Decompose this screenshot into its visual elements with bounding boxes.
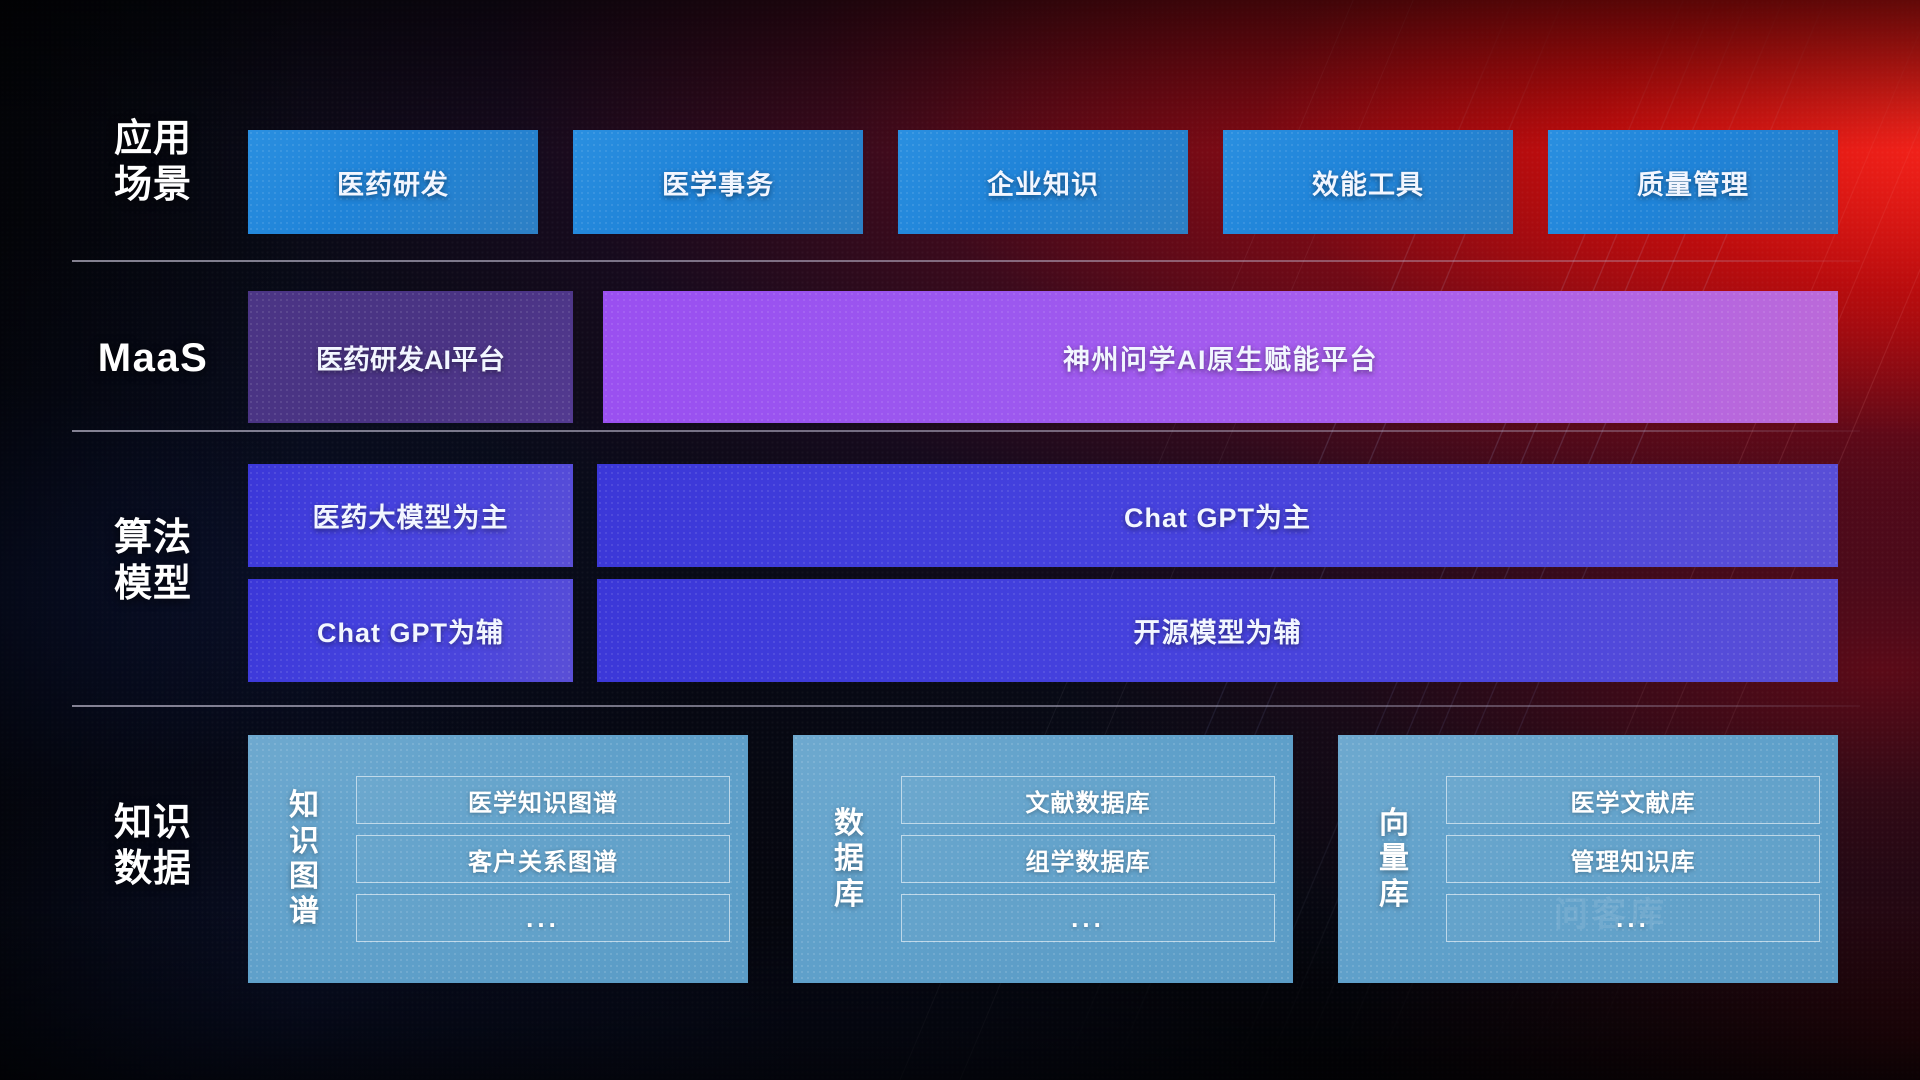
- algo-box-primary-right-label: Chat GPT为主: [1124, 496, 1311, 535]
- maas-box-pharma-ai-platform[interactable]: 医药研发AI平台: [248, 291, 573, 423]
- knowledge-item[interactable]: 医学知识图谱: [356, 776, 730, 824]
- knowledge-group-database[interactable]: 数 据 库 文献数据库 组学数据库 ...: [793, 735, 1293, 983]
- knowledge-group-vector-store[interactable]: 问客库 向 量 库 医学文献库 管理知识库 ...: [1338, 735, 1838, 983]
- app-box-5-label: 质量管理: [1637, 163, 1749, 202]
- app-box-4-label: 效能工具: [1312, 163, 1424, 202]
- knowledge-item[interactable]: 组学数据库: [901, 835, 1275, 883]
- app-box-1[interactable]: 医药研发: [248, 130, 538, 234]
- knowledge-group-2-title: 数 据 库: [805, 806, 893, 912]
- knowledge-item[interactable]: 医学文献库: [1446, 776, 1820, 824]
- algo-box-primary-right[interactable]: Chat GPT为主: [597, 464, 1838, 567]
- maas-box-shenzhou-wenxue-platform[interactable]: 神州问学AI原生赋能平台: [603, 291, 1838, 423]
- knowledge-item[interactable]: 文献数据库: [901, 776, 1275, 824]
- maas-box-pharma-ai-platform-label: 医药研发AI平台: [316, 338, 505, 377]
- app-box-2[interactable]: 医学事务: [573, 130, 863, 234]
- maas-box-shenzhou-wenxue-platform-label: 神州问学AI原生赋能平台: [1063, 338, 1378, 377]
- divider-algorithm-knowledge: [72, 705, 1860, 707]
- knowledge-group-3-title: 向 量 库: [1350, 806, 1438, 912]
- knowledge-item[interactable]: 管理知识库: [1446, 835, 1820, 883]
- row-label-application-scenarios: 应用 场景: [78, 116, 228, 209]
- algo-box-secondary-left[interactable]: Chat GPT为辅: [248, 579, 573, 682]
- knowledge-item[interactable]: 客户关系图谱: [356, 835, 730, 883]
- knowledge-item-more[interactable]: ...: [1446, 894, 1820, 942]
- app-box-3-label: 企业知识: [987, 163, 1099, 202]
- divider-application-maas: [72, 260, 1860, 262]
- app-box-1-label: 医药研发: [337, 163, 449, 202]
- row-label-algorithm-model: 算法 模型: [78, 515, 228, 608]
- divider-maas-algorithm: [72, 430, 1860, 432]
- knowledge-group-knowledge-graph[interactable]: 知 识 图 谱 医学知识图谱 客户关系图谱 ...: [248, 735, 748, 983]
- algo-box-secondary-right[interactable]: 开源模型为辅: [597, 579, 1838, 682]
- knowledge-group-1-title: 知 识 图 谱: [260, 788, 348, 930]
- app-box-2-label: 医学事务: [662, 163, 774, 202]
- slide-canvas: 应用 场景 医药研发 医学事务 企业知识 效能工具 质量管理 MaaS 医药研发…: [0, 0, 1920, 1080]
- app-box-4[interactable]: 效能工具: [1223, 130, 1513, 234]
- knowledge-group-1-items: 医学知识图谱 客户关系图谱 ...: [348, 762, 748, 956]
- knowledge-item-more[interactable]: ...: [356, 894, 730, 942]
- algo-box-secondary-left-label: Chat GPT为辅: [317, 611, 504, 650]
- algo-box-secondary-right-label: 开源模型为辅: [1134, 611, 1302, 650]
- knowledge-group-2-items: 文献数据库 组学数据库 ...: [893, 762, 1293, 956]
- knowledge-item-more[interactable]: ...: [901, 894, 1275, 942]
- app-box-3[interactable]: 企业知识: [898, 130, 1188, 234]
- algo-box-primary-left-label: 医药大模型为主: [313, 496, 509, 535]
- row-label-knowledge-data: 知识 数据: [78, 800, 228, 893]
- diagram-content: 应用 场景 医药研发 医学事务 企业知识 效能工具 质量管理 MaaS 医药研发…: [0, 0, 1920, 1080]
- algo-box-primary-left[interactable]: 医药大模型为主: [248, 464, 573, 567]
- app-box-5[interactable]: 质量管理: [1548, 130, 1838, 234]
- knowledge-group-3-items: 医学文献库 管理知识库 ...: [1438, 762, 1838, 956]
- row-label-maas: MaaS: [78, 334, 228, 383]
